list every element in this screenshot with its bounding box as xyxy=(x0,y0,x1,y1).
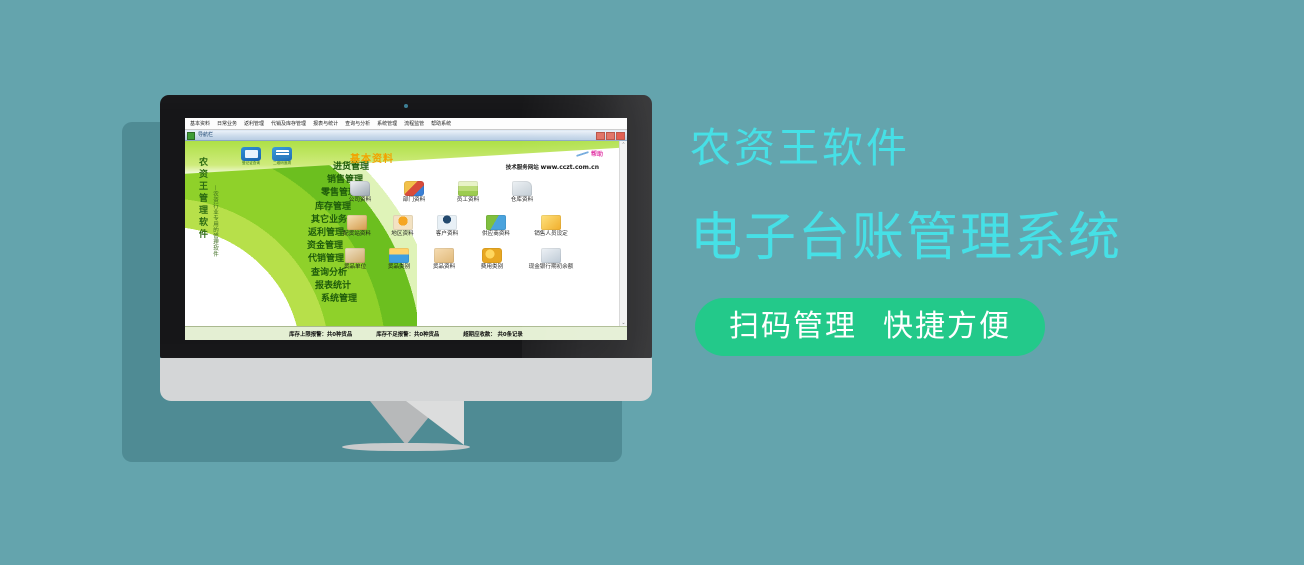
truck-icon xyxy=(347,215,367,230)
module-label: 公司资料 xyxy=(349,198,371,204)
content-scrollbar[interactable]: ⌃ ⌄ xyxy=(619,141,627,326)
module-employee[interactable]: 员工资料 xyxy=(441,181,495,204)
menu-item-reports[interactable]: 报表与统计 xyxy=(313,122,338,127)
module-salesperson[interactable]: 销售人员设定 xyxy=(522,215,580,238)
certificate-icon xyxy=(241,147,261,161)
status-understock-alert: 库存不足报警：共0种货品 xyxy=(376,330,439,338)
navigator-content: 农资王管理软件 —农资行业专用的管理软件 登记证查询 二维码追溯 xyxy=(185,141,627,326)
app-statusbar: 库存上限报警：共0种货品 库存不足报警：共0种货品 超期应收款： 共0条记录 xyxy=(185,326,627,340)
module-label: 费用类别 xyxy=(481,265,503,271)
scroll-down-icon[interactable]: ⌄ xyxy=(620,319,627,326)
promo-pill-button[interactable]: 扫码管理 快捷方便 xyxy=(695,298,1045,356)
unit-icon xyxy=(345,248,365,263)
module-label: 供应商资料 xyxy=(482,232,510,238)
salesperson-icon xyxy=(541,215,561,230)
promo-panel: 农资王软件 电子台账管理系统 扫码管理 快捷方便 xyxy=(690,0,1304,565)
maximize-button[interactable] xyxy=(606,132,615,140)
coin-icon xyxy=(482,248,502,263)
service-label: 技术服务网站 xyxy=(506,165,539,171)
module-label: 货品类别 xyxy=(388,265,410,271)
menu-item-query-analysis[interactable]: 查询与分析 xyxy=(345,122,370,127)
app-menubar[interactable]: 基本资料 日常业务 返利管理 代销及库存管理 报表与统计 查询与分析 系统管理 … xyxy=(185,118,627,130)
module-goods-info[interactable]: 货品资料 xyxy=(421,248,467,271)
module-label: 地区资料 xyxy=(391,232,413,238)
module-label: 货品资料 xyxy=(433,265,455,271)
module-opening-balance[interactable]: 现金银行期初余额 xyxy=(517,248,585,271)
status-overdue-receivable: 超期应收款： 共0条记录 xyxy=(463,330,523,338)
cube-icon xyxy=(404,181,424,196)
status-overstock-alert: 库存上限报警：共0种货品 xyxy=(289,330,352,338)
category-icon xyxy=(389,248,409,263)
module-label: 部门资料 xyxy=(403,198,425,204)
section-title: 基本资料 xyxy=(350,150,394,165)
service-site: 技术服务网站 www.cczt.com.cn xyxy=(506,163,599,171)
module-label: 现金银行期初余额 xyxy=(529,265,574,271)
module-distribution-station[interactable]: 配货站资料 xyxy=(333,215,381,238)
navigator-icon xyxy=(187,132,195,140)
monitor-stand-base xyxy=(342,443,470,451)
poster-stage: 基本资料 日常业务 返利管理 代销及库存管理 报表与统计 查询与分析 系统管理 … xyxy=(0,0,1304,565)
nav-item-report[interactable]: 报表统计 xyxy=(239,282,369,291)
minimize-button[interactable] xyxy=(596,132,605,140)
menu-item-help[interactable]: 帮助系统 xyxy=(431,122,451,127)
module-label: 配货站资料 xyxy=(343,232,371,238)
module-label: 销售人员设定 xyxy=(534,232,568,238)
window-titlebar: 导航栏 xyxy=(185,130,627,141)
imac-monitor: 基本资料 日常业务 返利管理 代销及库存管理 报表与统计 查询与分析 系统管理 … xyxy=(160,95,652,465)
warehouse-icon xyxy=(512,181,532,196)
nav-item-system[interactable]: 系统管理 xyxy=(239,295,369,304)
module-company[interactable]: 公司资料 xyxy=(333,181,387,204)
module-expense-category[interactable]: 费用类别 xyxy=(467,248,517,271)
user-icon xyxy=(437,215,457,230)
help-label: 帮助 xyxy=(591,149,603,158)
module-label: 货品单位 xyxy=(344,265,366,271)
monitor-bezel: 基本资料 日常业务 返利管理 代销及库存管理 报表与统计 查询与分析 系统管理 … xyxy=(160,95,652,358)
promo-title-small: 农资王软件 xyxy=(690,128,910,169)
menu-item-rebate[interactable]: 返利管理 xyxy=(244,122,264,127)
supplier-icon xyxy=(486,215,506,230)
brand-vertical-text: 农资王管理软件 —农资行业专用的管理软件 xyxy=(196,157,232,257)
stack-icon xyxy=(458,181,478,196)
book-icon xyxy=(350,181,370,196)
window-controls[interactable] xyxy=(596,132,625,140)
brand-sub-text: —农资行业专用的管理软件 xyxy=(211,185,219,257)
camera-dot xyxy=(404,104,408,108)
module-region[interactable]: 地区资料 xyxy=(381,215,424,238)
module-warehouse[interactable]: 仓库资料 xyxy=(495,181,549,204)
promo-pill-right: 快捷方便 xyxy=(883,312,1011,342)
scroll-up-icon[interactable]: ⌃ xyxy=(620,141,627,148)
qrcode-icon xyxy=(272,147,292,161)
monitor-chin xyxy=(160,358,652,401)
menu-item-process-supervision[interactable]: 流程监管 xyxy=(404,122,424,127)
module-row: 货品单位 货品类别 货品资料 xyxy=(333,248,609,271)
map-icon xyxy=(393,215,413,230)
module-goods-unit[interactable]: 货品单位 xyxy=(333,248,377,271)
promo-pill-left: 扫码管理 xyxy=(729,312,857,342)
module-customer[interactable]: 客户资料 xyxy=(424,215,470,238)
app-screen: 基本资料 日常业务 返利管理 代销及库存管理 报表与统计 查询与分析 系统管理 … xyxy=(185,118,627,340)
module-grid: 公司资料 部门资料 员工资料 xyxy=(333,181,609,282)
module-row: 公司资料 部门资料 员工资料 xyxy=(333,181,609,204)
close-button[interactable] xyxy=(616,132,625,140)
help-link[interactable]: 帮助 xyxy=(576,149,603,158)
module-goods-category[interactable]: 货品类别 xyxy=(377,248,421,271)
brand-main-text: 农资王管理软件 xyxy=(196,157,209,257)
window-title: 导航栏 xyxy=(198,133,213,138)
menu-item-system[interactable]: 系统管理 xyxy=(377,122,397,127)
module-label: 客户资料 xyxy=(436,232,458,238)
module-label: 员工资料 xyxy=(457,198,479,204)
module-supplier[interactable]: 供应商资料 xyxy=(470,215,522,238)
goods-icon xyxy=(434,248,454,263)
service-url[interactable]: www.cczt.com.cn xyxy=(541,164,599,171)
menu-item-consign-inventory[interactable]: 代销及库存管理 xyxy=(271,122,306,127)
promo-title-large: 电子台账管理系统 xyxy=(690,212,1122,264)
module-label: 仓库资料 xyxy=(511,198,533,204)
monitor-stand-highlight xyxy=(406,401,464,445)
bank-icon xyxy=(541,248,561,263)
module-row: 配货站资料 地区资料 客户资料 xyxy=(333,215,609,238)
module-department[interactable]: 部门资料 xyxy=(387,181,441,204)
menu-item-basic[interactable]: 基本资料 xyxy=(190,122,210,127)
arrow-icon xyxy=(576,151,589,157)
menu-item-daily[interactable]: 日常业务 xyxy=(217,122,237,127)
